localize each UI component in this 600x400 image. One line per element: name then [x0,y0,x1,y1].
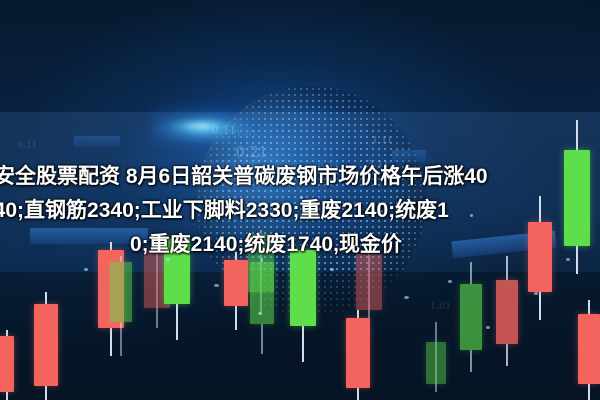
candlestick [224,252,248,330]
candlestick [290,250,316,362]
volume-slab [30,228,148,244]
light-speck [534,292,538,295]
light-speck [166,258,170,261]
candlestick [426,322,446,392]
candlestick [528,196,552,320]
candlestick [0,330,14,400]
candlestick [564,120,590,274]
candlestick [34,292,58,400]
banner-image: 0.11 1.01 0.21 1.11 3.11 0.11 1.01 0.21 … [0,0,600,400]
light-speck [258,312,262,315]
light-speck [470,214,473,217]
light-speck [84,268,88,271]
candlestick [578,300,600,400]
candlestick [250,258,274,354]
light-speck [486,326,490,329]
volume-slab [74,136,120,147]
light-speck [404,296,409,299]
light-speck [448,280,452,283]
light-speck [330,268,334,271]
light-speck [214,284,219,287]
candlestick [460,262,482,372]
light-speck [566,258,570,261]
volume-slab [392,150,426,162]
candlestick [164,238,190,340]
light-speck [300,196,303,199]
candlestick [346,310,370,400]
light-speck [380,210,383,213]
candlestick [496,256,518,366]
light-flare-core [168,118,234,134]
candlestick [110,256,132,356]
